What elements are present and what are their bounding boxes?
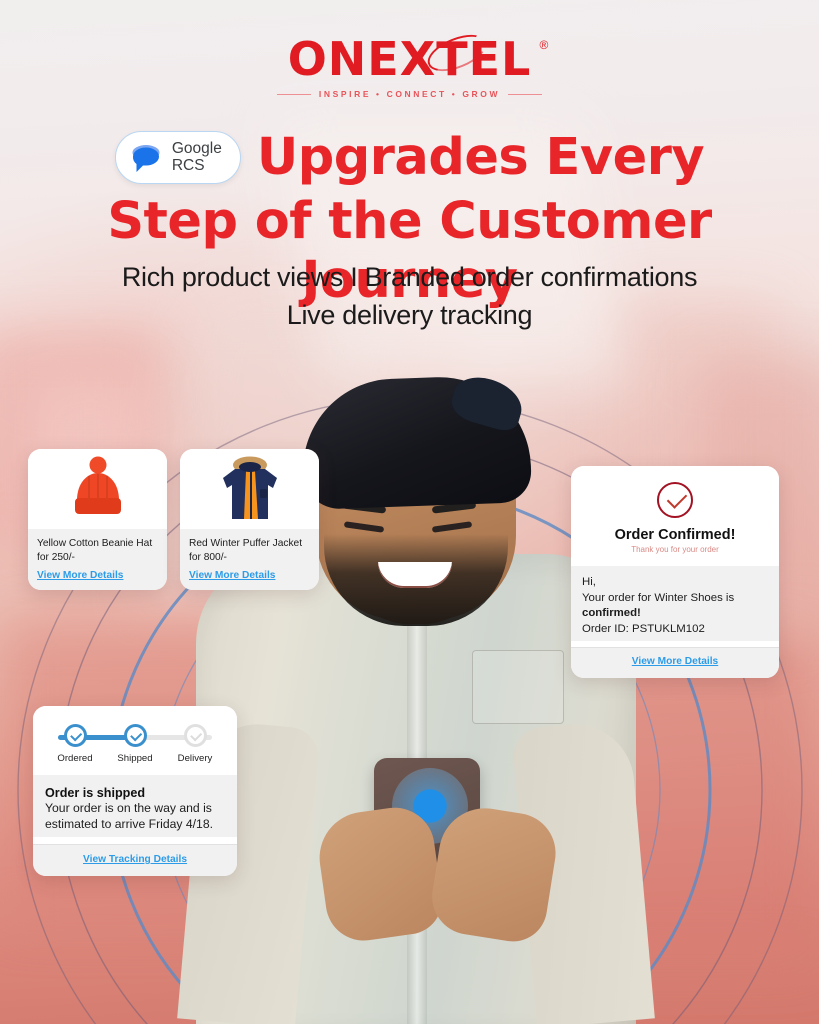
confirmation-title: Order Confirmed!: [581, 527, 769, 543]
subheadline-line-2: Live delivery tracking: [0, 296, 819, 334]
order-tracking-card[interactable]: Ordered Shipped Delivery Order is shippe…: [33, 706, 237, 876]
logo-text-one: ONE: [288, 32, 400, 86]
confirmation-greeting: Hi,: [582, 575, 768, 591]
view-more-details-link[interactable]: View More Details: [581, 656, 769, 667]
view-more-details-link[interactable]: View More Details: [37, 570, 158, 581]
check-icon: [124, 724, 147, 747]
tracking-progress-stepper: Ordered Shipped Delivery: [47, 724, 223, 764]
tracking-status-title: Order is shipped: [45, 786, 225, 800]
subheadline-line-1: Rich product views I Branded order confi…: [0, 258, 819, 296]
badge-line-rcs: RCS: [172, 158, 222, 174]
logo-tagline: INSPIRE • CONNECT • GROW: [319, 89, 500, 99]
headline-line-1: Upgrades Every: [257, 128, 704, 187]
badge-line-google: Google: [172, 141, 222, 157]
chat-bubble-icon: [129, 143, 163, 173]
step-label: Ordered: [47, 753, 103, 764]
view-more-details-link[interactable]: View More Details: [189, 570, 310, 581]
confirmation-body-bold: confirmed!: [582, 607, 641, 619]
beanie-hat-image: [28, 449, 167, 529]
step-label: Delivery: [167, 753, 223, 764]
check-icon: [64, 724, 87, 747]
check-circle-icon: [657, 482, 693, 518]
view-tracking-details-link[interactable]: View Tracking Details: [43, 854, 227, 865]
tracking-step-shipped: Shipped: [107, 724, 163, 764]
tracking-step-ordered: Ordered: [47, 724, 103, 764]
product-card-beanie[interactable]: Yellow Cotton Beanie Hat for 250/- View …: [28, 449, 167, 590]
tagline-rule-right: [508, 94, 542, 95]
google-rcs-badge[interactable]: Google RCS: [115, 131, 241, 184]
order-confirmation-card[interactable]: Order Confirmed! Thank you for your orde…: [571, 466, 779, 678]
headline-row: Google RCS Upgrades Every: [0, 128, 819, 187]
puffer-jacket-image: [180, 449, 319, 529]
promotional-poster: ONEXTEL ® INSPIRE • CONNECT • GROW Googl…: [0, 0, 819, 1024]
product-title: Yellow Cotton Beanie Hat for 250/-: [37, 537, 158, 564]
confirmation-body: Your order for Winter Shoes is confirmed…: [582, 591, 768, 622]
product-card-jacket[interactable]: Red Winter Puffer Jacket for 800/- View …: [180, 449, 319, 590]
check-icon-pending: [184, 724, 207, 747]
confirmation-body-prefix: Your order for Winter Shoes is: [582, 592, 734, 604]
registered-trademark-icon: ®: [539, 38, 548, 52]
tracking-step-delivery: Delivery: [167, 724, 223, 764]
step-label: Shipped: [107, 753, 163, 764]
tagline-rule-left: [277, 94, 311, 95]
tracking-status-text: Your order is on the way and is estimate…: [45, 801, 225, 833]
product-title: Red Winter Puffer Jacket for 800/-: [189, 537, 310, 564]
subheadline: Rich product views I Branded order confi…: [0, 258, 819, 335]
onextel-logo: ONEXTEL ® INSPIRE • CONNECT • GROW: [0, 36, 819, 99]
confirmation-order-id: Order ID: PSTUKLM102: [582, 622, 768, 638]
confirmation-subtitle: Thank you for your order: [581, 545, 769, 554]
